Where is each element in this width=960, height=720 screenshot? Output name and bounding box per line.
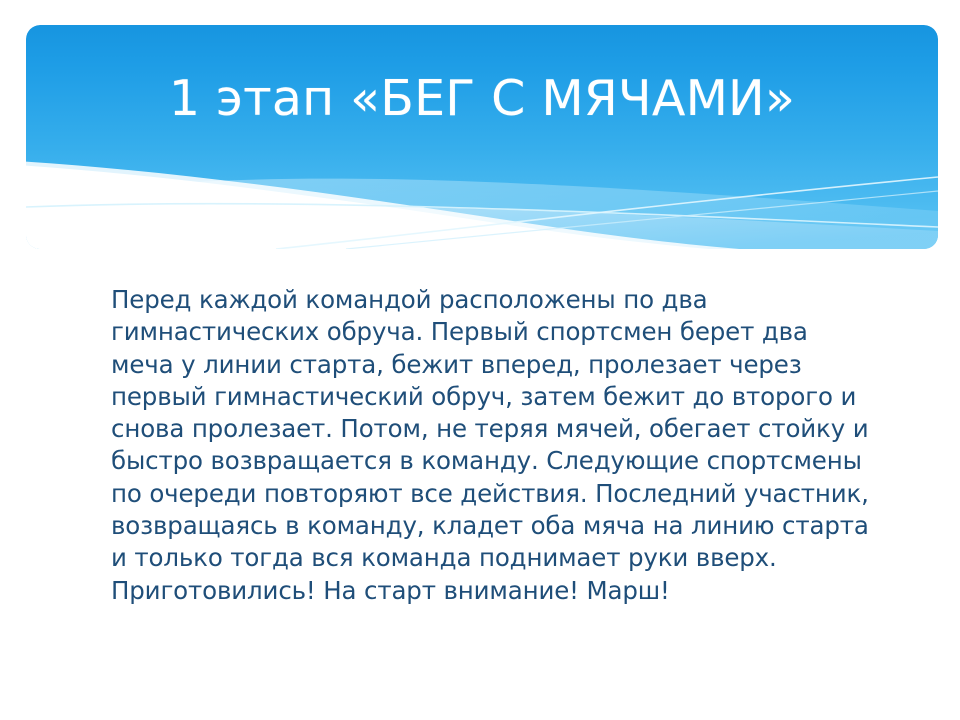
paragraph-line: возвращаясь в команду, кладет оба мяча н… [111,510,901,542]
header-wave-graphic [26,25,938,249]
paragraph-line: по очереди повторяют все действия. После… [111,478,901,510]
paragraph-line: снова пролезает. Потом, не теряя мячей, … [111,413,901,445]
paragraph-line: гимнастических обруча. Первый спортсмен … [111,316,901,348]
presentation-slide: 1 этап «БЕГ С МЯЧАМИ» Перед каждой коман… [0,0,960,720]
paragraph-line: Перед каждой командой расположены по два [111,284,901,316]
page-title: 1 этап «БЕГ С МЯЧАМИ» [26,68,938,130]
paragraph-line: Приготовились! На старт внимание! Марш! [111,575,901,607]
paragraph-line: и только тогда вся команда поднимает рук… [111,542,901,574]
body-paragraph: Перед каждой командой расположены по два… [111,284,901,607]
header-banner [26,25,938,249]
paragraph-line: первый гимнастический обруч, затем бежит… [111,381,901,413]
paragraph-line: меча у линии старта, бежит вперед, проле… [111,349,901,381]
paragraph-line: быстро возвращается в команду. Следующие… [111,445,901,477]
